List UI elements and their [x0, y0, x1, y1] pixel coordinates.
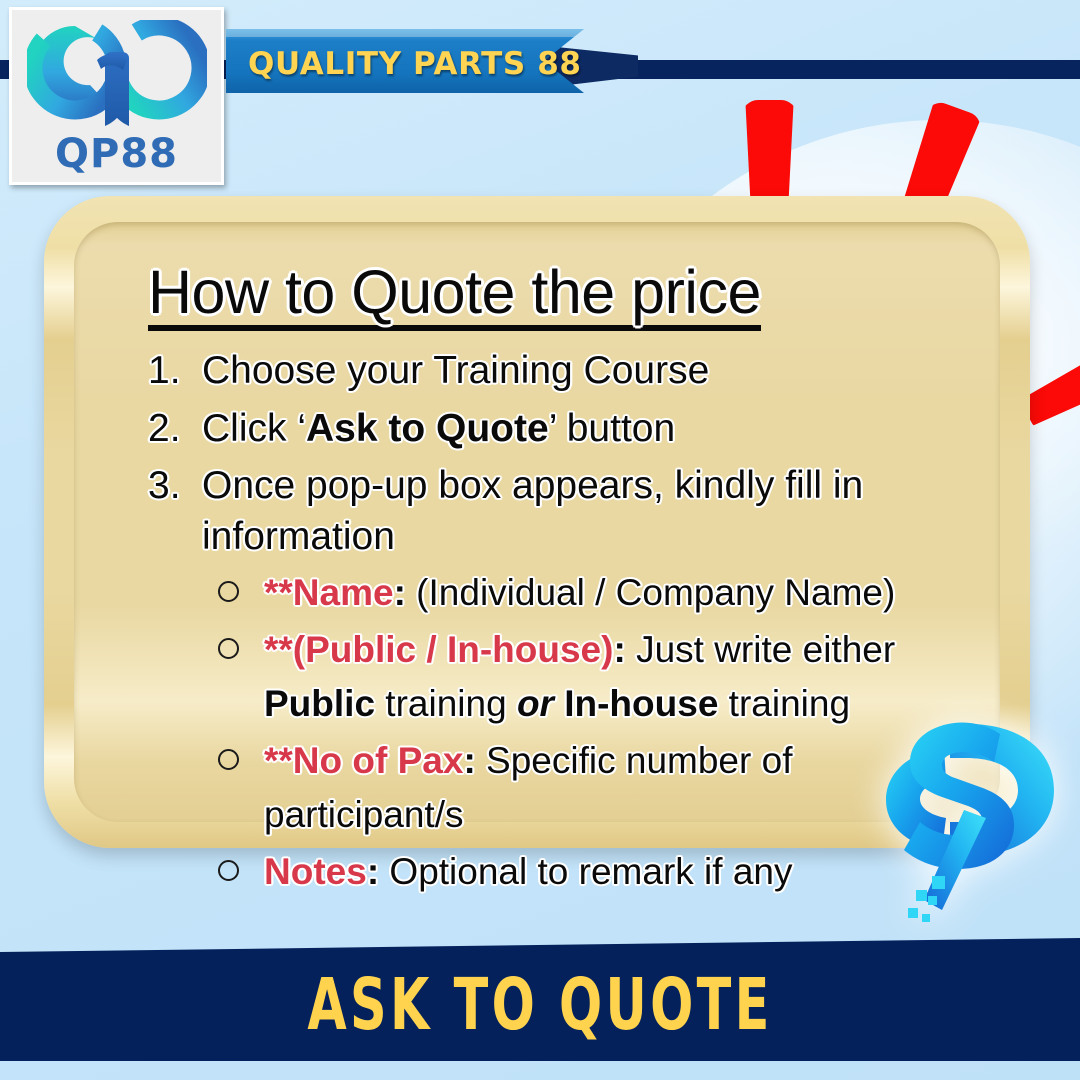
field-item-name: **Name: (Individual / Company Name)	[202, 566, 990, 620]
step-item-3: 3.Once pop-up box appears, kindly fill i…	[148, 460, 990, 899]
step-text-post: ’ button	[549, 407, 675, 450]
ribbon-label: QUALITY PARTS 88	[248, 46, 582, 82]
field-value: Optional to remark if any	[379, 851, 792, 892]
ribbon-gloss	[226, 29, 584, 37]
step-item-2: 2.Click ‘Ask to Quote’ button	[148, 403, 990, 454]
steps-list: 1.Choose your Training Course 2.Click ‘A…	[148, 345, 990, 899]
page-title: How to Quote the price	[148, 260, 761, 331]
ask-to-quote-button[interactable]: ASK TO QUOTE	[97, 963, 983, 1047]
instructions-card-inner: How to Quote the price 1.Choose your Tra…	[74, 222, 1000, 822]
field-value: (Individual / Company Name)	[406, 572, 895, 613]
field-value-pre: Just write either	[626, 629, 895, 670]
sp-monogram-watermark-icon	[872, 690, 1068, 930]
step-text: Choose your Training Course	[202, 349, 709, 392]
brand-logo-tile: QP88	[9, 7, 224, 185]
instructions-content: How to Quote the price 1.Choose your Tra…	[148, 260, 990, 905]
brand-ribbon: QUALITY PARTS 88	[226, 29, 596, 93]
logo-wordmark: QP88	[12, 134, 221, 174]
field-value-public: Public	[264, 683, 375, 724]
qp88-monogram-icon	[12, 20, 221, 138]
field-label: **Name	[264, 572, 394, 613]
field-value-post: training	[718, 683, 850, 724]
field-value-or: or	[517, 683, 554, 724]
field-colon: :	[394, 572, 406, 613]
step-number: 1.	[148, 345, 196, 396]
cta-banner[interactable]: ASK TO QUOTE	[0, 938, 1080, 1061]
bullet-circle-icon	[218, 581, 239, 602]
field-colon: :	[463, 740, 475, 781]
field-value-mid: training	[375, 683, 517, 724]
field-value-inhouse: In-house	[554, 683, 718, 724]
field-label: **No of Pax	[264, 740, 463, 781]
step-number: 3.	[148, 460, 196, 511]
step-text: Once pop-up box appears, kindly fill in …	[202, 464, 863, 558]
bullet-circle-icon	[218, 638, 239, 659]
ask-to-quote-emphasis: Ask to Quote	[306, 407, 549, 450]
field-label: Notes	[264, 851, 367, 892]
step-number: 2.	[148, 403, 196, 454]
field-label: **(Public / In-house)	[264, 629, 613, 670]
bullet-circle-icon	[218, 749, 239, 770]
step-item-1: 1.Choose your Training Course	[148, 345, 990, 396]
step-text-pre: Click ‘	[202, 407, 306, 450]
bullet-circle-icon	[218, 860, 239, 881]
field-colon: :	[367, 851, 379, 892]
field-colon: :	[613, 629, 625, 670]
